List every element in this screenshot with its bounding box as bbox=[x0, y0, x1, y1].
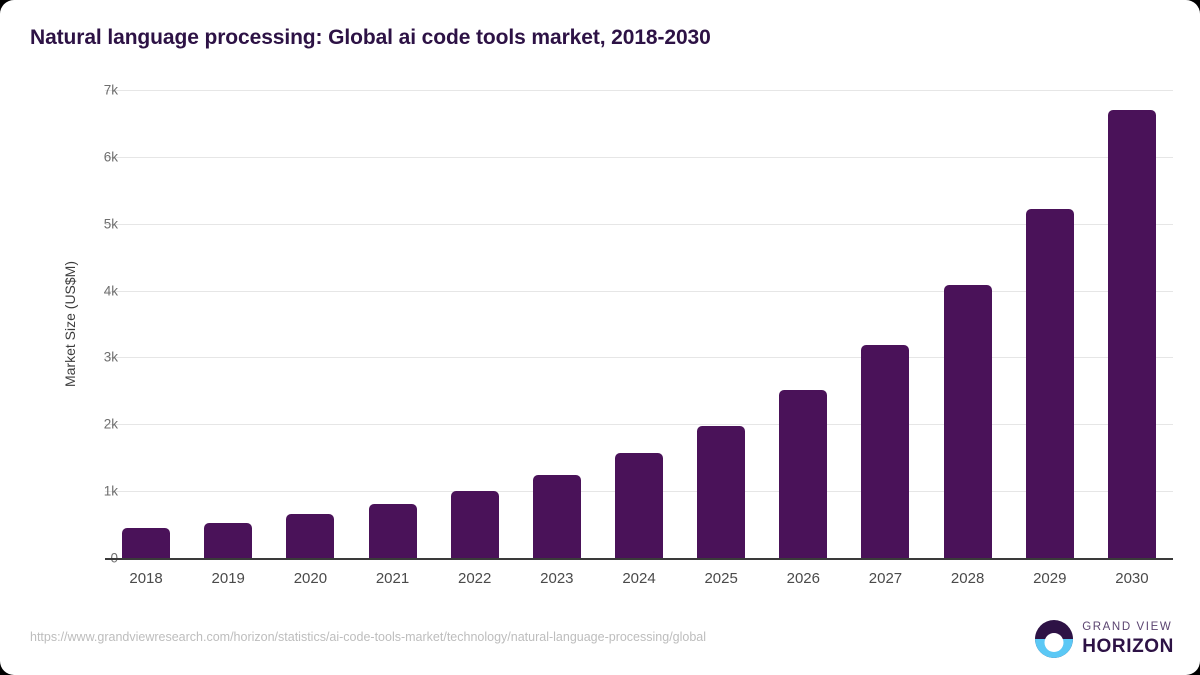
bar[interactable] bbox=[451, 491, 499, 558]
source-url[interactable]: https://www.grandviewresearch.com/horizo… bbox=[30, 630, 706, 644]
bar[interactable] bbox=[122, 528, 170, 558]
y-axis-label: Market Size (US$M) bbox=[62, 4, 78, 644]
logo-ray-one bbox=[1046, 644, 1062, 647]
x-tick-label: 2030 bbox=[1089, 570, 1175, 587]
chart-title: Natural language processing: Global ai c… bbox=[30, 26, 711, 50]
bar[interactable] bbox=[861, 345, 909, 558]
x-tick-label: 2029 bbox=[1007, 570, 1093, 587]
x-tick-label: 2028 bbox=[925, 570, 1011, 587]
chart-card: Natural language processing: Global ai c… bbox=[0, 0, 1200, 675]
bar[interactable] bbox=[1026, 209, 1074, 558]
horizon-sun-icon bbox=[1035, 620, 1073, 658]
bar[interactable] bbox=[615, 453, 663, 558]
x-tick-label: 2024 bbox=[596, 570, 682, 587]
bar[interactable] bbox=[369, 504, 417, 558]
x-tick-label: 2021 bbox=[350, 570, 436, 587]
logo-product-line: HORIZON bbox=[1082, 637, 1174, 656]
x-tick-label: 2018 bbox=[103, 570, 189, 587]
bar-series bbox=[105, 90, 1173, 558]
bar[interactable] bbox=[1108, 110, 1156, 558]
bar[interactable] bbox=[204, 523, 252, 558]
logo-brand-line: GRAND VIEW bbox=[1082, 622, 1174, 634]
logo-ray-two bbox=[1049, 649, 1059, 652]
x-tick-label: 2019 bbox=[185, 570, 271, 587]
x-tick-label: 2027 bbox=[842, 570, 928, 587]
bar[interactable] bbox=[779, 390, 827, 558]
grand-view-horizon-logo[interactable]: GRAND VIEW HORIZON bbox=[1035, 620, 1174, 658]
x-tick-label: 2026 bbox=[760, 570, 846, 587]
x-tick-label: 2025 bbox=[678, 570, 764, 587]
bar[interactable] bbox=[697, 426, 745, 558]
bar[interactable] bbox=[533, 475, 581, 558]
x-tick-label: 2023 bbox=[514, 570, 600, 587]
bar[interactable] bbox=[944, 285, 992, 558]
x-tick-label: 2022 bbox=[432, 570, 518, 587]
logo-text: GRAND VIEW HORIZON bbox=[1082, 622, 1174, 656]
x-tick-label: 2020 bbox=[267, 570, 353, 587]
bar[interactable] bbox=[286, 514, 334, 558]
x-axis-line bbox=[105, 558, 1173, 560]
